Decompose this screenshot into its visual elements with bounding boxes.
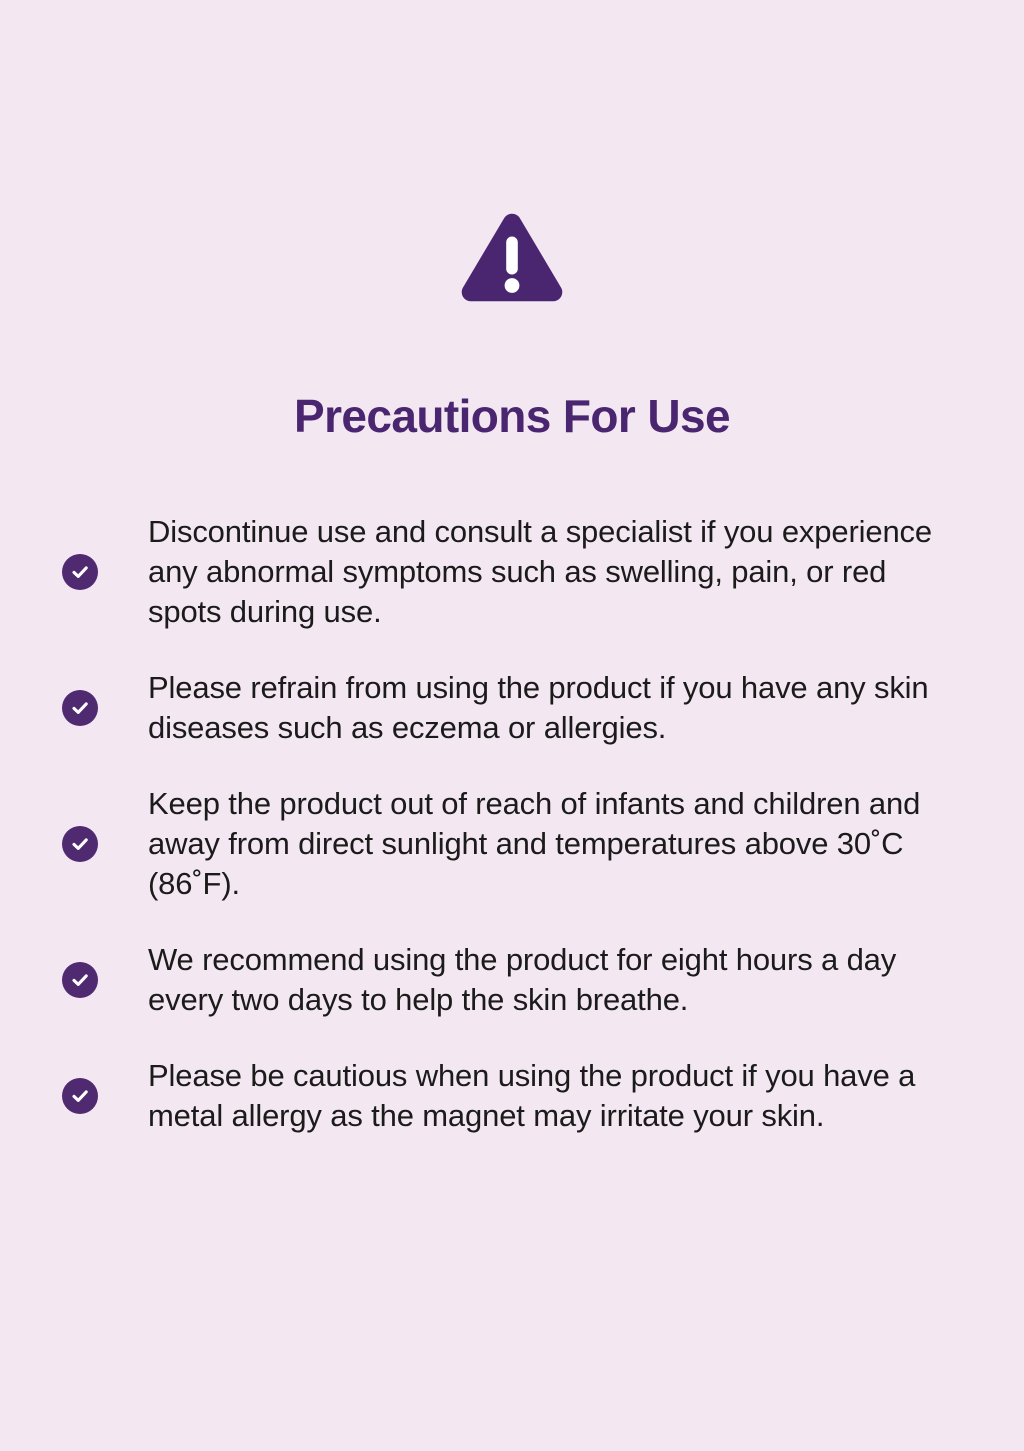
- warning-icon-container: [0, 212, 1024, 304]
- precaution-text: Please be cautious when using the produc…: [148, 1056, 948, 1136]
- precautions-page: Precautions For Use Discontinue use and …: [0, 0, 1024, 1451]
- check-circle-icon: [62, 962, 98, 998]
- check-circle-icon: [62, 1078, 98, 1114]
- list-item: Please be cautious when using the produc…: [62, 1056, 962, 1136]
- warning-triangle-icon: [460, 212, 564, 304]
- list-item: Keep the product out of reach of infants…: [62, 784, 962, 904]
- precaution-text: Discontinue use and consult a specialist…: [148, 512, 948, 632]
- list-item: We recommend using the product for eight…: [62, 940, 962, 1020]
- check-circle-icon: [62, 690, 98, 726]
- list-item: Discontinue use and consult a specialist…: [62, 512, 962, 632]
- list-item: Please refrain from using the product if…: [62, 668, 962, 748]
- precaution-text: Keep the product out of reach of infants…: [148, 784, 948, 904]
- check-circle-icon: [62, 554, 98, 590]
- precautions-list: Discontinue use and consult a specialist…: [62, 512, 962, 1136]
- page-title: Precautions For Use: [0, 387, 1024, 445]
- precaution-text: Please refrain from using the product if…: [148, 668, 948, 748]
- check-circle-icon: [62, 826, 98, 862]
- precaution-text: We recommend using the product for eight…: [148, 940, 948, 1020]
